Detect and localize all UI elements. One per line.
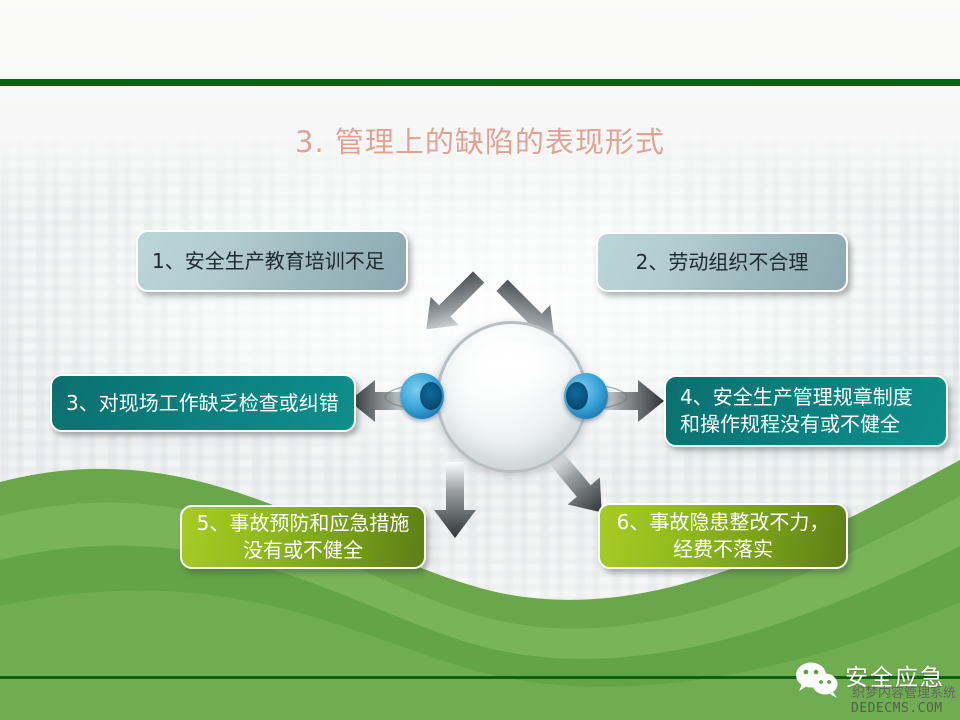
watermark-cn: 织梦内容管理系统	[852, 686, 956, 701]
center-hub	[424, 315, 584, 475]
diagram-node-2-label: 2、劳动组织不合理	[612, 249, 832, 276]
hub-knob-right-inner	[566, 382, 588, 410]
diagram-node-3[interactable]: 3、对现场工作缺乏检查或纠错	[50, 374, 356, 432]
diagram-node-5[interactable]: 5、事故预防和应急措施 没有或不健全	[180, 505, 426, 569]
diagram-node-4-label: 4、安全生产管理规章制度 和操作规程没有或不健全	[680, 384, 932, 438]
diagram-node-1[interactable]: 1、安全生产教育培训不足	[136, 230, 408, 292]
diagram-node-3-label: 3、对现场工作缺乏检查或纠错	[66, 390, 340, 417]
hub-gloss-highlight	[473, 342, 569, 394]
diagram-node-2[interactable]: 2、劳动组织不合理	[596, 232, 848, 292]
hub-knob-left-icon	[400, 373, 444, 419]
diagram-node-4[interactable]: 4、安全生产管理规章制度 和操作规程没有或不健全	[664, 375, 948, 447]
diagram-node-6[interactable]: 6、事故隐患整改不力， 经费不落实	[598, 503, 848, 569]
diagram-node-6-label: 6、事故隐患整改不力， 经费不落实	[614, 509, 832, 563]
diagram-node-1-label: 1、安全生产教育培训不足	[152, 248, 392, 275]
slide-canvas: 3. 管理上的缺陷的表现形式	[0, 0, 960, 720]
watermark-en: DEDECMS.COM	[851, 701, 943, 716]
hub-knob-right-icon	[564, 373, 608, 419]
wechat-icon	[795, 660, 841, 700]
hub-knob-left-inner	[420, 382, 442, 410]
diagram-node-5-label: 5、事故预防和应急措施 没有或不健全	[196, 510, 410, 564]
